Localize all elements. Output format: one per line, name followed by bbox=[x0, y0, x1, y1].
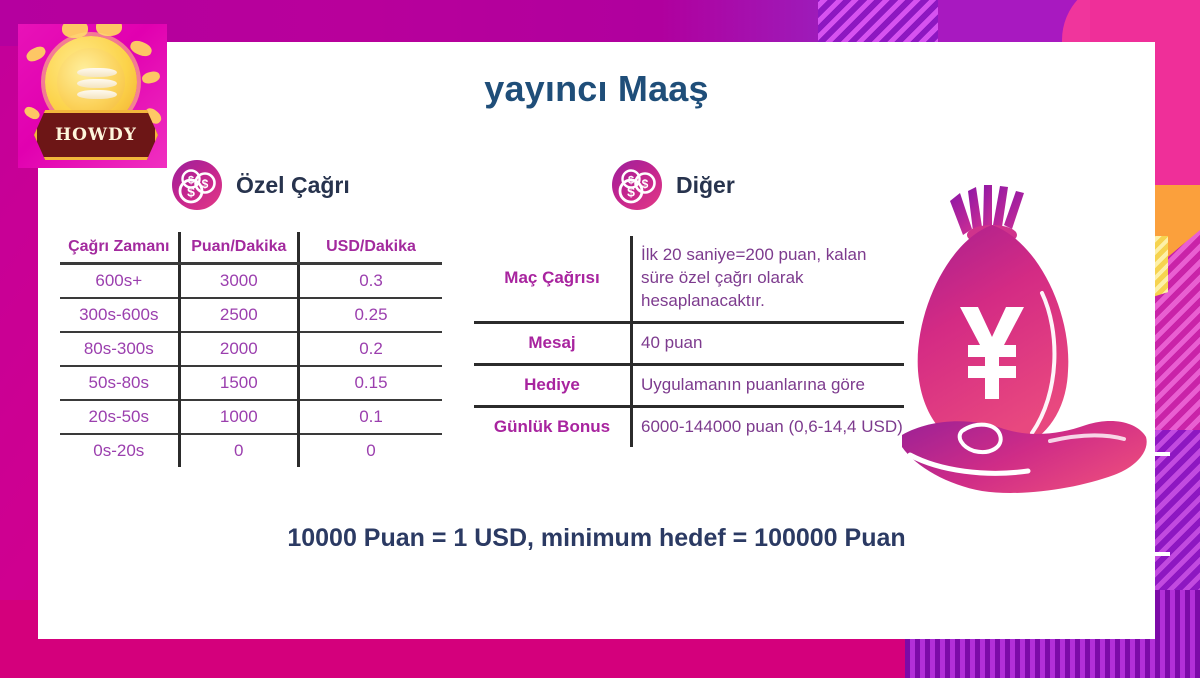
table-row: 300s-600s25000.25 bbox=[60, 298, 442, 332]
call-time-table: Çağrı Zamanı Puan/Dakika USD/Dakika 600s… bbox=[60, 232, 442, 467]
dollar-coins-icon: $ $ $ bbox=[172, 160, 222, 210]
table-row: Mesaj40 puan bbox=[474, 322, 904, 364]
table-cell: 2500 bbox=[179, 298, 298, 332]
table-cell: 50s-80s bbox=[60, 366, 179, 400]
section-header-ozel-cagri: $ $ $ Özel Çağrı bbox=[172, 160, 350, 210]
table-row: Maç Çağrısıİlk 20 saniye=200 puan, kalan… bbox=[474, 236, 904, 322]
purple-stripes-top bbox=[818, 0, 938, 44]
svg-text:$: $ bbox=[627, 184, 635, 200]
reward-value: 40 puan bbox=[632, 322, 905, 364]
coin-spark-icon bbox=[24, 44, 47, 64]
coin-spark-icon bbox=[23, 105, 42, 122]
dollar-coins-icon: $ $ $ bbox=[612, 160, 662, 210]
reward-value: 6000-144000 puan (0,6-14,4 USD) bbox=[632, 406, 905, 446]
coin-inner-face bbox=[57, 48, 125, 116]
table-cell: 0.2 bbox=[299, 332, 442, 366]
table-row: 0s-20s00 bbox=[60, 434, 442, 467]
table-cell: 0.1 bbox=[299, 400, 442, 434]
reward-label: Mesaj bbox=[474, 322, 632, 364]
reward-value: Uygulamanın puanlarına göre bbox=[632, 364, 905, 406]
reward-label: Hediye bbox=[474, 364, 632, 406]
howdy-marquee-banner: HOWDY bbox=[34, 110, 158, 160]
column-header-call-time: Çağrı Zamanı bbox=[60, 232, 179, 264]
table-header-row: Çağrı Zamanı Puan/Dakika USD/Dakika bbox=[60, 232, 442, 264]
coin-stack-icon bbox=[77, 68, 117, 102]
table-cell: 0 bbox=[179, 434, 298, 467]
section-label: Özel Çağrı bbox=[236, 172, 350, 199]
table-cell: 0 bbox=[299, 434, 442, 467]
svg-text:$: $ bbox=[187, 184, 195, 200]
table-cell: 20s-50s bbox=[60, 400, 179, 434]
reward-label: Maç Çağrısı bbox=[474, 236, 632, 322]
conversion-note: 10000 Puan = 1 USD, minimum hedef = 1000… bbox=[38, 524, 1155, 553]
other-rewards-table: Maç Çağrısıİlk 20 saniye=200 puan, kalan… bbox=[474, 236, 904, 447]
table-cell: 80s-300s bbox=[60, 332, 179, 366]
coin-spark-icon bbox=[141, 70, 161, 85]
table-row: 50s-80s15000.15 bbox=[60, 366, 442, 400]
table-row: 20s-50s10000.1 bbox=[60, 400, 442, 434]
table-cell: 2000 bbox=[179, 332, 298, 366]
table-cell: 3000 bbox=[179, 264, 298, 299]
section-label: Diğer bbox=[676, 172, 735, 199]
reward-label: Günlük Bonus bbox=[474, 406, 632, 446]
table-cell: 300s-600s bbox=[60, 298, 179, 332]
column-header-usd-per-minute: USD/Dakika bbox=[299, 232, 442, 264]
table-cell: 600s+ bbox=[60, 264, 179, 299]
table-row: 600s+30000.3 bbox=[60, 264, 442, 299]
table-cell: 0.3 bbox=[299, 264, 442, 299]
table-row: HediyeUygulamanın puanlarına göre bbox=[474, 364, 904, 406]
logo-text: HOWDY bbox=[55, 125, 137, 145]
page-title: yayıncı Maaş bbox=[38, 68, 1155, 110]
column-header-points-per-minute: Puan/Dakika bbox=[179, 232, 298, 264]
coin-spark-icon bbox=[96, 24, 122, 36]
table-cell: 1500 bbox=[179, 366, 298, 400]
howdy-logo: HOWDY bbox=[18, 24, 167, 168]
table-cell: 0s-20s bbox=[60, 434, 179, 467]
money-bag-on-hand-icon bbox=[900, 185, 1150, 515]
table-row: 80s-300s20000.2 bbox=[60, 332, 442, 366]
table-cell: 1000 bbox=[179, 400, 298, 434]
reward-value: İlk 20 saniye=200 puan, kalan süre özel … bbox=[632, 236, 905, 322]
table-cell: 0.25 bbox=[299, 298, 442, 332]
table-cell: 0.15 bbox=[299, 366, 442, 400]
coin-spark-icon bbox=[128, 38, 153, 58]
section-header-diger: $ $ $ Diğer bbox=[612, 160, 735, 210]
table-row: Günlük Bonus6000-144000 puan (0,6-14,4 U… bbox=[474, 406, 904, 446]
